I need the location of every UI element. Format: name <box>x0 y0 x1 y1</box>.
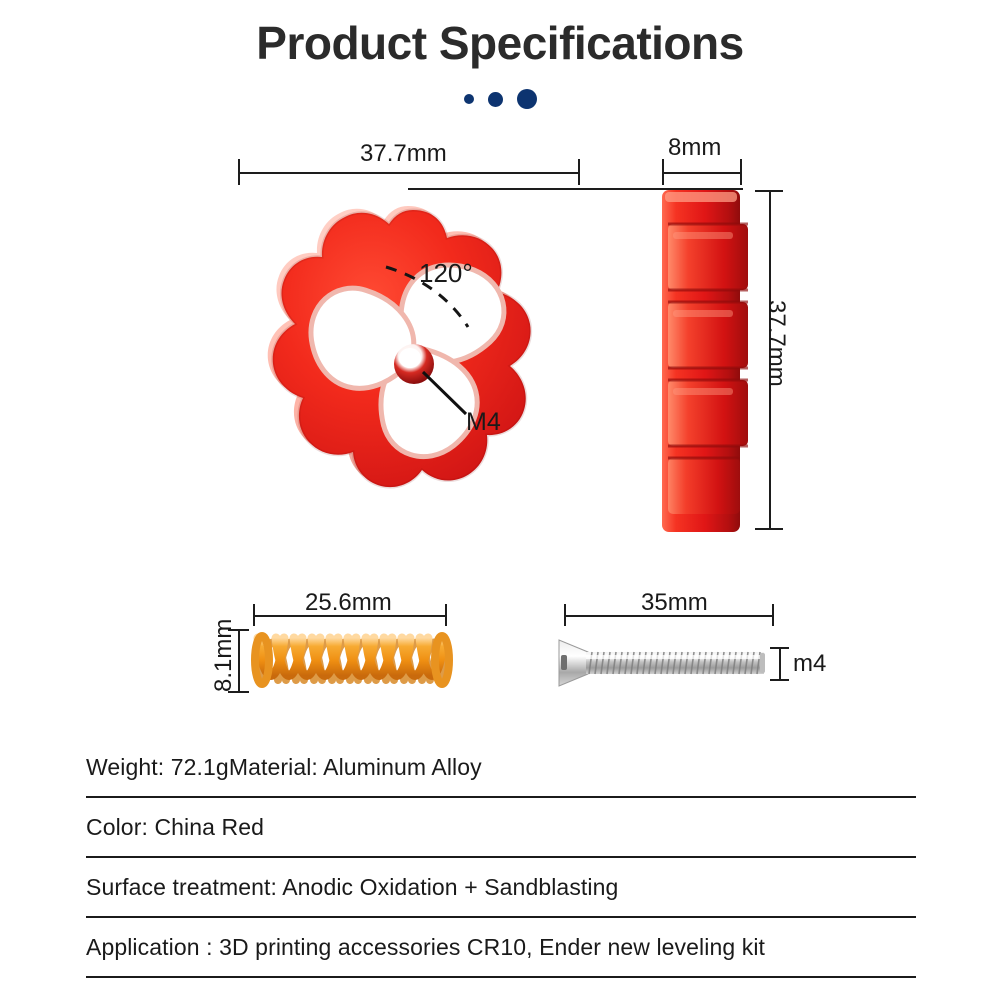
angle-annotation-label: 120° <box>419 258 473 289</box>
spring-diameter-dimension-line <box>238 629 240 691</box>
page-title: Product Specifications <box>0 16 1000 70</box>
spec-row-surface-treatment: Surface treatment: Anodic Oxidation + Sa… <box>86 858 916 918</box>
knob-width-tick-left <box>238 159 240 185</box>
screw-length-dimension-label: 35mm <box>641 589 708 617</box>
spring-length-tick-right <box>445 604 447 626</box>
knob-thickness-tick-left <box>662 159 664 185</box>
knob-width-dimension-line <box>238 172 578 174</box>
knob-thickness-dimension-line <box>662 172 740 174</box>
knob-width-dimension-label: 37.7mm <box>360 140 447 168</box>
dot-small-icon <box>464 94 474 104</box>
leveling-knob-side-view <box>655 188 765 536</box>
knob-height-dimension-label: 37.7mm <box>762 300 790 387</box>
spring-length-tick-left <box>253 604 255 626</box>
specifications-table: Weight: 72.1g Material: Aluminum Alloy C… <box>86 738 916 978</box>
compression-spring <box>250 624 456 700</box>
decorative-dots <box>0 88 1000 110</box>
knob-thickness-dimension-label: 8mm <box>668 134 721 162</box>
screw-thread-dimension-line <box>779 647 781 679</box>
product-spec-page: Product Specifications 37.7mm 8mm 37.7mm <box>0 0 1000 1000</box>
leveling-knob-front-view <box>238 192 588 542</box>
spec-color-text: Color: China Red <box>86 814 264 841</box>
spec-weight-text: Weight: 72.1g <box>86 754 229 781</box>
screw-length-dimension-line <box>564 615 772 617</box>
spec-row-color: Color: China Red <box>86 798 916 858</box>
m4-center-hole <box>399 348 421 368</box>
knob-width-tick-right <box>578 159 580 185</box>
screw-length-tick-left <box>564 604 566 626</box>
countersunk-screw <box>556 632 778 694</box>
screw-thread-dimension-label: m4 <box>793 650 826 678</box>
dot-medium-icon <box>488 92 503 107</box>
spring-diameter-dimension-label: 8.1mm <box>210 619 238 692</box>
screw-length-tick-right <box>772 604 774 626</box>
spec-row-application: Application : 3D printing accessories CR… <box>86 918 916 978</box>
spring-length-dimension-label: 25.6mm <box>305 589 392 617</box>
dot-large-icon <box>517 89 537 109</box>
spec-material-text: Material: Aluminum Alloy <box>229 754 482 781</box>
m4-thread-label: M4 <box>466 408 501 437</box>
spec-application-text: Application : 3D printing accessories CR… <box>86 934 765 961</box>
spec-surface-treatment-text: Surface treatment: Anodic Oxidation + Sa… <box>86 874 618 901</box>
spec-row-weight-material: Weight: 72.1g Material: Aluminum Alloy <box>86 738 916 798</box>
spring-length-dimension-line <box>253 615 445 617</box>
knob-thickness-tick-right <box>740 159 742 185</box>
